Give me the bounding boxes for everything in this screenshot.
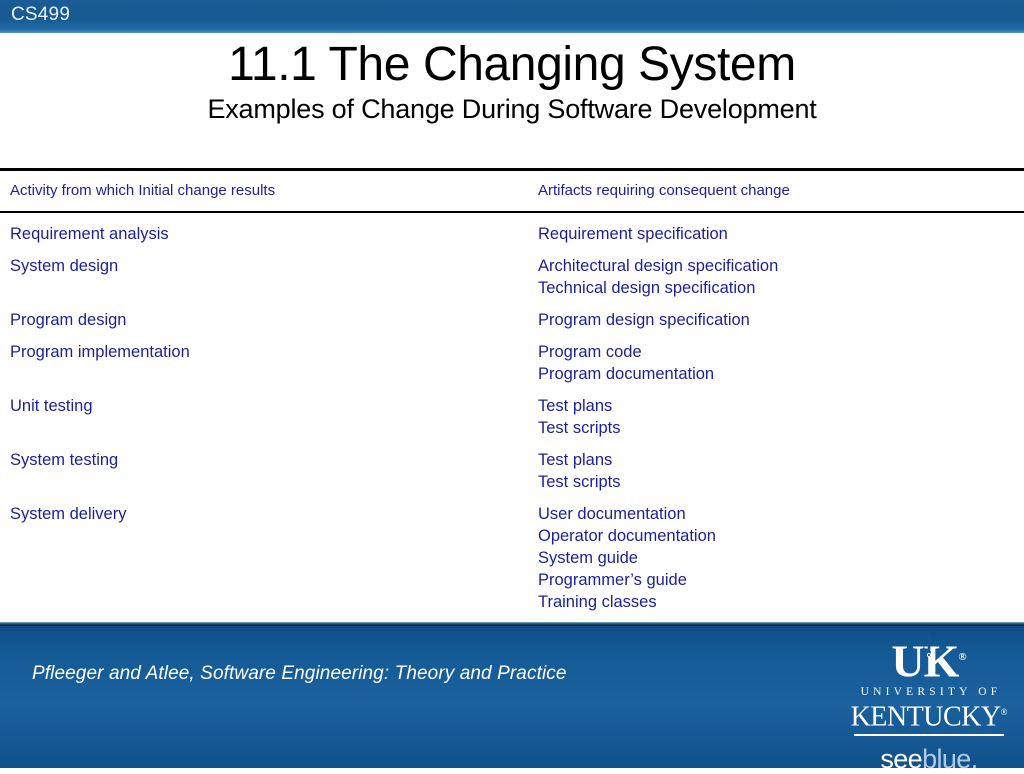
uk-tagline-see: see [880, 744, 922, 774]
table-row: System delivery User documentation Opera… [0, 503, 1024, 613]
row-artifacts-cell: Test plans Test scripts [538, 395, 1024, 439]
uk-kentucky-text: KENTUCKY [851, 702, 1001, 733]
change-examples-table: Activity from which Initial change resul… [0, 168, 1024, 623]
uk-registered-mark: ® [958, 651, 966, 663]
row-activity-cell: System delivery [0, 503, 538, 525]
course-code-label: CS499 [11, 4, 70, 26]
table-row: System design Architectural design speci… [0, 255, 1024, 299]
row-artifacts-cell: Program design specification [538, 309, 1024, 331]
uk-monogram: UK® [891, 634, 966, 684]
row-activity-cell: Unit testing [0, 395, 538, 417]
table-header-cell-activity: Activity from which Initial change resul… [0, 180, 538, 202]
table-row: System testing Test plans Test scripts [0, 449, 1024, 493]
university-of-kentucky-logo: UK® UNIVERSITY OF KENTUCKY® seeblue. [848, 634, 1010, 773]
table-row: Program implementation Program code Prog… [0, 341, 1024, 385]
row-activity-cell: System testing [0, 449, 538, 471]
table-header-row: Activity from which Initial change resul… [0, 171, 1024, 211]
row-activity-cell: Program design [0, 309, 538, 331]
title-block: 11.1 The Changing System Examples of Cha… [0, 33, 1024, 125]
table-header-cell-artifacts: Artifacts requiring consequent change [538, 180, 1024, 202]
uk-tagline-blue: blue. [922, 744, 978, 774]
row-activity-cell: Requirement analysis [0, 223, 538, 245]
uk-logo-underline [854, 734, 1004, 736]
row-artifacts-cell: User documentation Operator documentatio… [538, 503, 1024, 613]
textbook-citation: Pfleeger and Atlee, Software Engineering… [32, 663, 567, 685]
row-artifacts-cell: Program code Program documentation [538, 341, 1024, 385]
row-activity-cell: System design [0, 255, 538, 277]
uk-kentucky-registered-mark: ® [1001, 707, 1008, 717]
table-row: Requirement analysis Requirement specifi… [0, 223, 1024, 245]
table-row: Program design Program design specificat… [0, 309, 1024, 331]
course-header-band: CS499 [0, 0, 1024, 33]
table-body: Requirement analysis Requirement specifi… [0, 213, 1024, 613]
uk-tagline: seeblue. [848, 745, 1010, 773]
footer-band: Pfleeger and Atlee, Software Engineering… [0, 622, 1024, 768]
page-subtitle: Examples of Change During Software Devel… [0, 95, 1024, 125]
page-title: 11.1 The Changing System [0, 39, 1024, 91]
row-artifacts-cell: Requirement specification [538, 223, 1024, 245]
uk-monogram-text: UK [891, 635, 958, 686]
row-activity-cell: Program implementation [0, 341, 538, 363]
row-artifacts-cell: Test plans Test scripts [538, 449, 1024, 493]
uk-kentucky-line: KENTUCKY® [848, 697, 1010, 732]
row-artifacts-cell: Architectural design specification Techn… [538, 255, 1024, 299]
table-row: Unit testing Test plans Test scripts [0, 395, 1024, 439]
